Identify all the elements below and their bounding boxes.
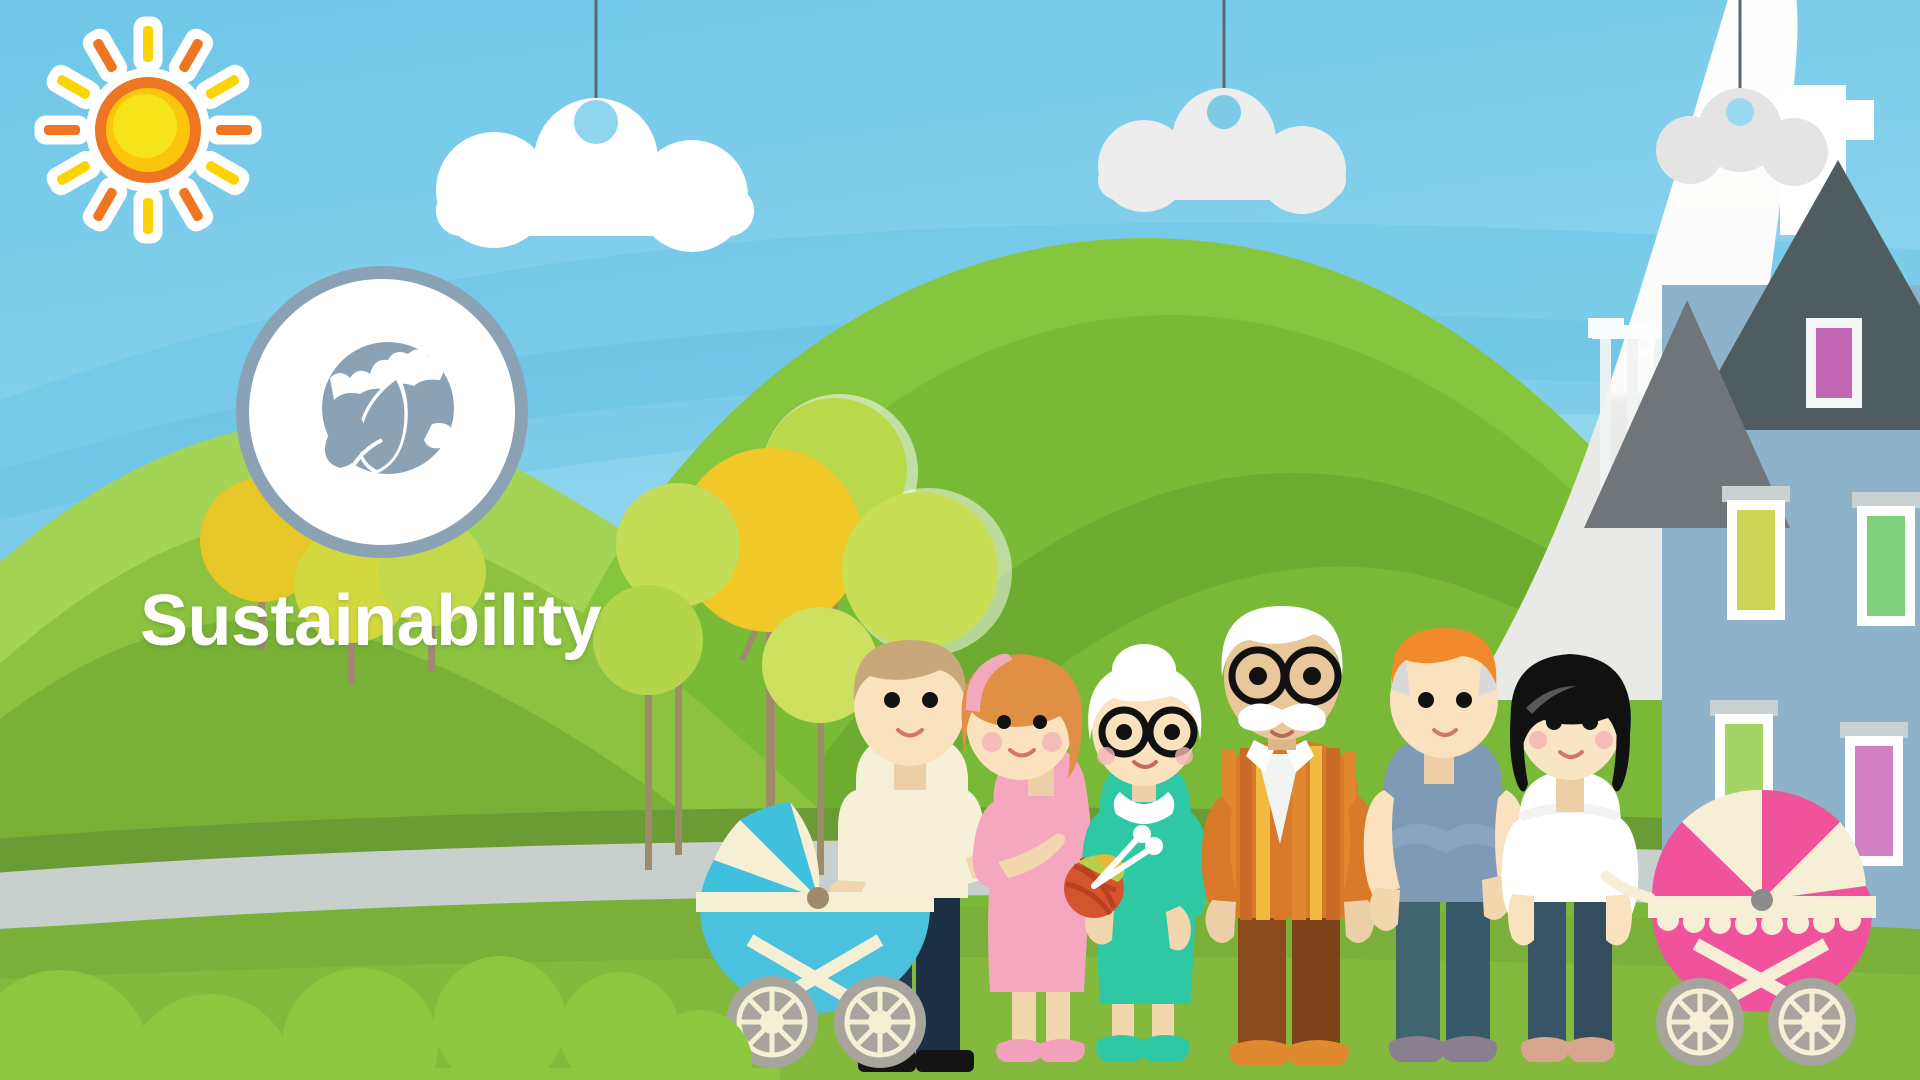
youngwoman-shoe-left — [1521, 1037, 1569, 1062]
sustainability-badge[interactable] — [236, 266, 528, 558]
scene-svg — [0, 0, 1920, 1080]
grandma-shoe-left — [1096, 1035, 1145, 1062]
youngwoman-blush-right — [1595, 731, 1613, 749]
youngman-eye-left — [1418, 692, 1434, 708]
grandma-shoe-right — [1140, 1035, 1189, 1062]
page-title: Sustainability — [140, 585, 601, 657]
youngman-leg-left — [1396, 892, 1440, 1052]
father-eye-right — [922, 692, 938, 708]
youngman-leg-right — [1446, 892, 1490, 1052]
mother-blush-right — [1042, 732, 1062, 752]
cloud-hole — [1726, 98, 1754, 126]
youngwoman-eye-left — [1546, 714, 1562, 730]
window-attic-magenta — [1806, 318, 1862, 408]
grandpa-shoe-left — [1229, 1040, 1291, 1066]
youngwoman-blush-left — [1529, 731, 1547, 749]
grandpa-leg-left — [1238, 906, 1286, 1052]
mother-blush-left — [982, 732, 1002, 752]
grandma-blush-right — [1175, 747, 1193, 765]
mother-shoe-left — [996, 1039, 1043, 1062]
mother-shoe-right — [1038, 1039, 1085, 1062]
sun-core — [113, 94, 177, 158]
grandma-hair-bun — [1112, 644, 1176, 696]
mother-eye-left — [997, 715, 1011, 729]
pram-blue-wheel-right — [834, 976, 926, 1068]
pram-pink-hub — [1751, 889, 1773, 911]
illustration-canvas: Sustainability — [0, 0, 1920, 1080]
grandma-blush-left — [1097, 747, 1115, 765]
cloud-hole — [574, 100, 618, 144]
youngman-eye-right — [1456, 692, 1472, 708]
father-arm-left — [838, 790, 866, 890]
pram-pink-wheel-left — [1656, 978, 1744, 1066]
father-shoe-right — [916, 1050, 974, 1072]
youngman-shoe-left — [1389, 1036, 1445, 1062]
grandpa-shoe-right — [1287, 1040, 1349, 1066]
cloud-hole — [1207, 95, 1241, 129]
globe-leaf-icon — [322, 342, 454, 474]
pram-pink-wheel-right — [1768, 978, 1856, 1066]
grandpa-leg-right — [1292, 906, 1340, 1052]
mother-eye-right — [1033, 715, 1047, 729]
pram-blue-hub — [807, 887, 829, 909]
youngwoman-eye-right — [1582, 714, 1598, 730]
window-upper-yellow — [1722, 486, 1790, 620]
youngwoman-shoe-right — [1567, 1037, 1615, 1062]
father-eye-left — [884, 692, 900, 708]
youngman-shoe-right — [1441, 1036, 1497, 1062]
window-upper-green — [1852, 492, 1920, 626]
